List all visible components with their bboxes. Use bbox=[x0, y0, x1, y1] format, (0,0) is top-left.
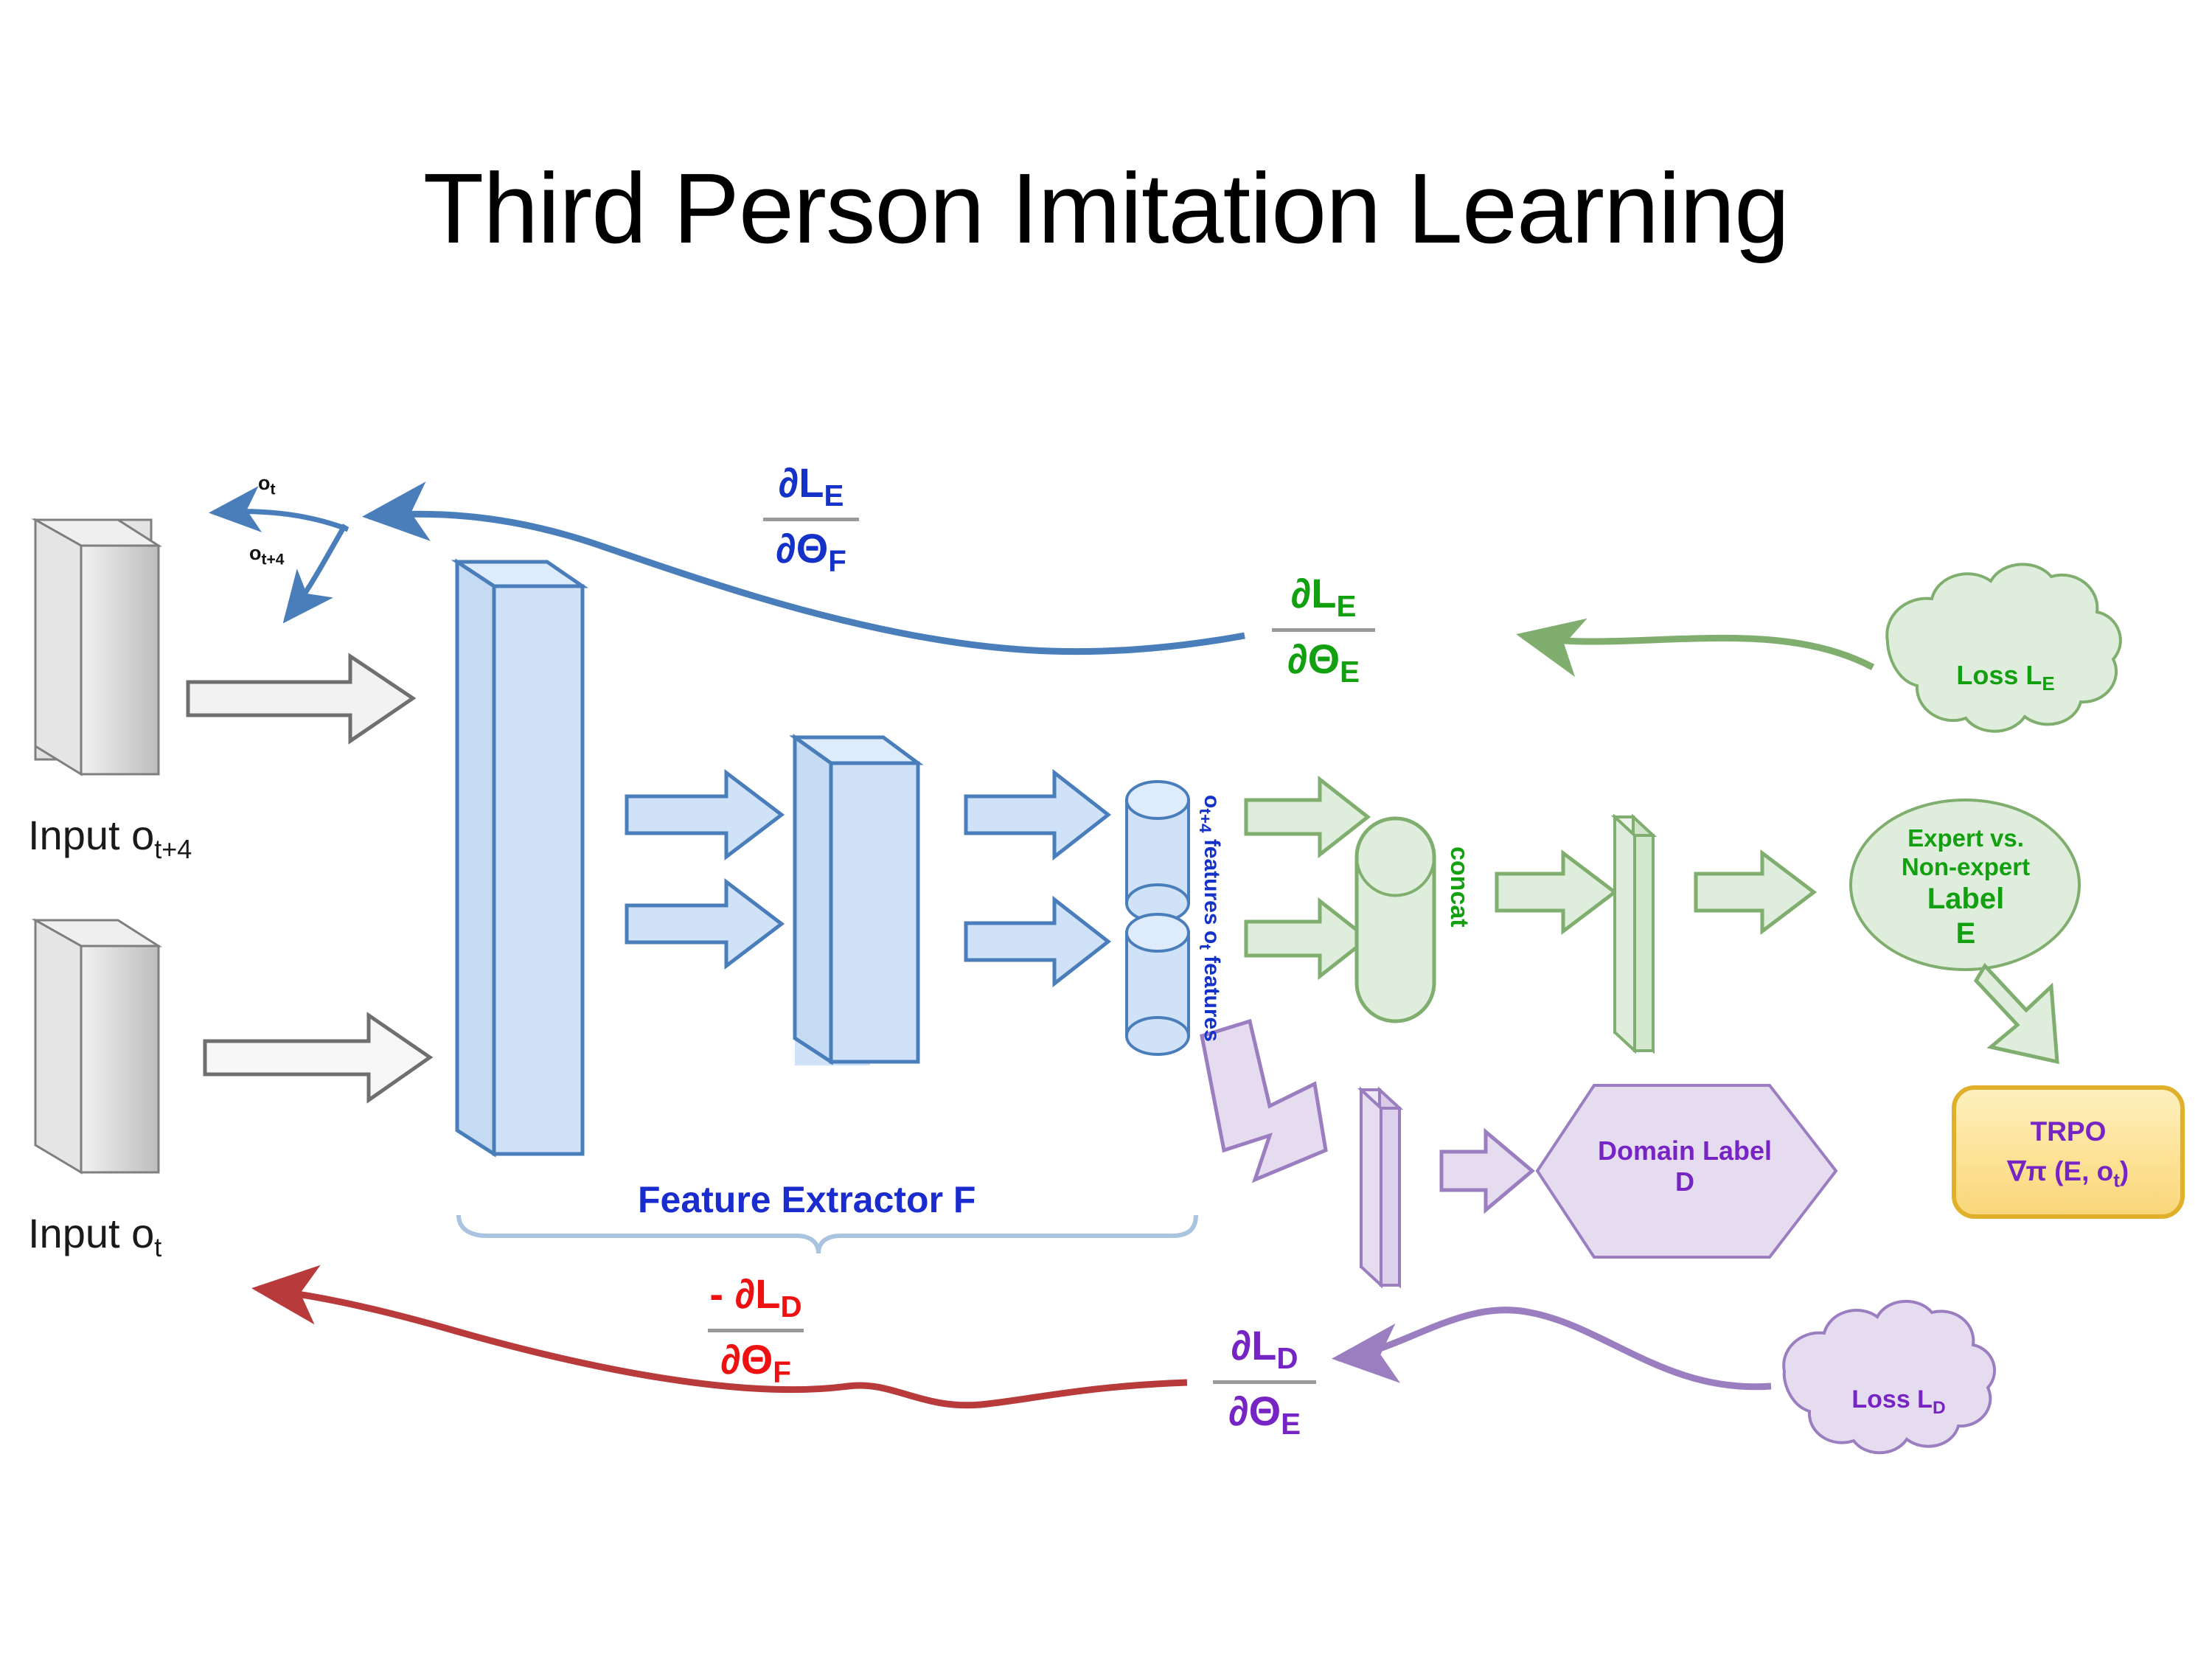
green-arrow-to-expert-label bbox=[1696, 853, 1814, 931]
feature-cylinder-ot bbox=[1127, 914, 1189, 1054]
feature-label-ot4: ot+4 features bbox=[1195, 795, 1224, 925]
classifier-panel-domain bbox=[1361, 1090, 1399, 1285]
feature-cylinder-ot4 bbox=[1127, 782, 1189, 922]
input-label-ot4: Input ot+4 bbox=[28, 811, 192, 865]
purple-gradient-flow-line bbox=[1338, 1310, 1771, 1387]
gradient-le-theta-f: ∂LE ∂ΘF bbox=[737, 461, 885, 577]
loss-ld-text: Loss LD bbox=[1810, 1385, 1987, 1419]
trpo-line-2: ∇π (E, ot) bbox=[1954, 1152, 2183, 1195]
arrow-label-ot: ot bbox=[258, 472, 276, 498]
loss-le-cloud bbox=[1887, 564, 2121, 731]
blue-arrow-bottom-2 bbox=[966, 900, 1108, 984]
green-arrow-into-concat-top bbox=[1246, 779, 1368, 855]
green-arrow-into-concat-bottom bbox=[1246, 901, 1368, 976]
concat-label: concat bbox=[1444, 846, 1473, 928]
trpo-text: TRPO ∇π (E, ot) bbox=[1954, 1112, 2183, 1195]
purple-arrow-to-domain bbox=[1202, 1021, 1326, 1180]
blue-arrow-bottom-1 bbox=[627, 882, 782, 966]
purple-arrow-to-hexagon bbox=[1441, 1132, 1532, 1210]
green-arrow-to-panel bbox=[1497, 853, 1615, 931]
feature-extractor-block-2 bbox=[795, 737, 918, 1065]
loss-le-text: Loss LE bbox=[1917, 660, 2094, 696]
gradient-le-theta-e: ∂LE ∂ΘE bbox=[1246, 571, 1401, 688]
expert-label-text: Expert vs. Non-expert Label E bbox=[1851, 824, 2081, 951]
domain-line-1: Domain Label bbox=[1578, 1135, 1792, 1166]
domain-label-text: Domain Label D bbox=[1578, 1135, 1792, 1198]
trpo-line-1: TRPO bbox=[1954, 1112, 2183, 1152]
arrow-label-ot4: ot+4 bbox=[249, 542, 285, 568]
expert-line-3: Label bbox=[1851, 882, 2081, 917]
blue-arrow-top-1 bbox=[627, 773, 782, 857]
input-arrow-bottom bbox=[205, 1015, 430, 1100]
classifier-panel-expert bbox=[1615, 817, 1653, 1051]
green-gradient-flow-line bbox=[1523, 636, 1873, 667]
input-label-ot: Input ot bbox=[28, 1209, 161, 1263]
blue-arrow-top-2 bbox=[966, 773, 1108, 857]
feature-label-ot: ot features bbox=[1195, 931, 1224, 1042]
input-box-ot4 bbox=[35, 520, 159, 774]
input-arrow-top bbox=[188, 656, 413, 741]
gradient-ld-theta-f: - ∂LD ∂ΘF bbox=[671, 1272, 841, 1388]
slide-canvas: Third Person Imitation Learning bbox=[0, 0, 2212, 1659]
feature-extractor-block-1 bbox=[457, 562, 582, 1154]
expert-line-2: Non-expert bbox=[1851, 853, 2081, 882]
expert-line-4: E bbox=[1851, 917, 2081, 951]
blue-ot-arrow bbox=[214, 512, 348, 529]
green-arrow-expert-to-trpo bbox=[1976, 966, 2057, 1062]
loss-ld-cloud bbox=[1784, 1301, 1994, 1453]
concat-pill bbox=[1357, 818, 1434, 1021]
domain-line-2: D bbox=[1578, 1166, 1792, 1197]
gradient-ld-theta-e: ∂LD ∂ΘE bbox=[1187, 1324, 1342, 1440]
expert-line-1: Expert vs. bbox=[1851, 824, 2081, 853]
input-box-ot bbox=[35, 920, 159, 1172]
blue-ot4-arrow bbox=[286, 525, 345, 619]
feature-extractor-label: Feature Extractor F bbox=[638, 1178, 975, 1221]
